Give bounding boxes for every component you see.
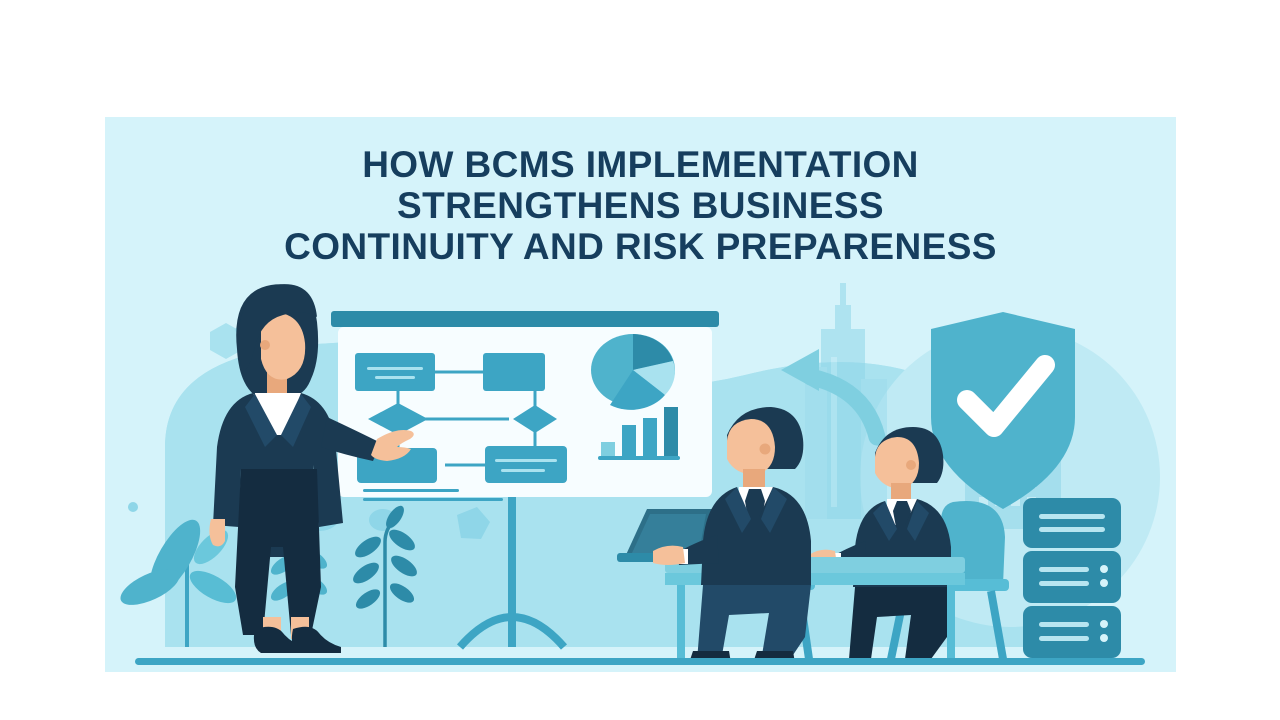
man-left-ear (760, 444, 771, 455)
bar-3 (643, 418, 657, 456)
table-leg-left (677, 585, 685, 661)
man-right-ear (906, 460, 916, 470)
illustration-panel: HOW BCMS IMPLEMENTATION STRENGTHENS BUSI… (105, 117, 1176, 672)
bar-2 (622, 425, 636, 456)
screenshot-canvas: HOW BCMS IMPLEMENTATION STRENGTHENS BUSI… (0, 0, 1280, 720)
ground-line (135, 658, 1145, 665)
flow-node-4 (485, 446, 567, 483)
dot-decor-far-left (128, 502, 138, 512)
bar-4 (664, 407, 678, 456)
building-tall (821, 329, 865, 519)
flow-node-1 (355, 353, 435, 391)
server-unit-3 (1023, 606, 1121, 658)
bar-1 (601, 442, 615, 456)
bar-chart-axis (598, 456, 680, 460)
woman-hand-left (209, 519, 225, 546)
building-left (805, 367, 827, 519)
flow-node-2 (483, 353, 545, 391)
board-text-rule-1 (363, 489, 459, 492)
server-stack (1023, 498, 1121, 658)
man-left-neck (743, 469, 765, 489)
table-leg-right (947, 585, 955, 661)
board-text-rule-2 (363, 498, 503, 501)
man-right-neck (891, 483, 911, 501)
building-tall-spire (835, 305, 851, 333)
server-unit-2 (1023, 551, 1121, 603)
server-unit-1 (1023, 498, 1121, 548)
building-antenna (840, 283, 846, 309)
whiteboard-header-bar (331, 311, 719, 327)
scene-illustration (105, 117, 1176, 672)
woman-ear (260, 340, 270, 350)
